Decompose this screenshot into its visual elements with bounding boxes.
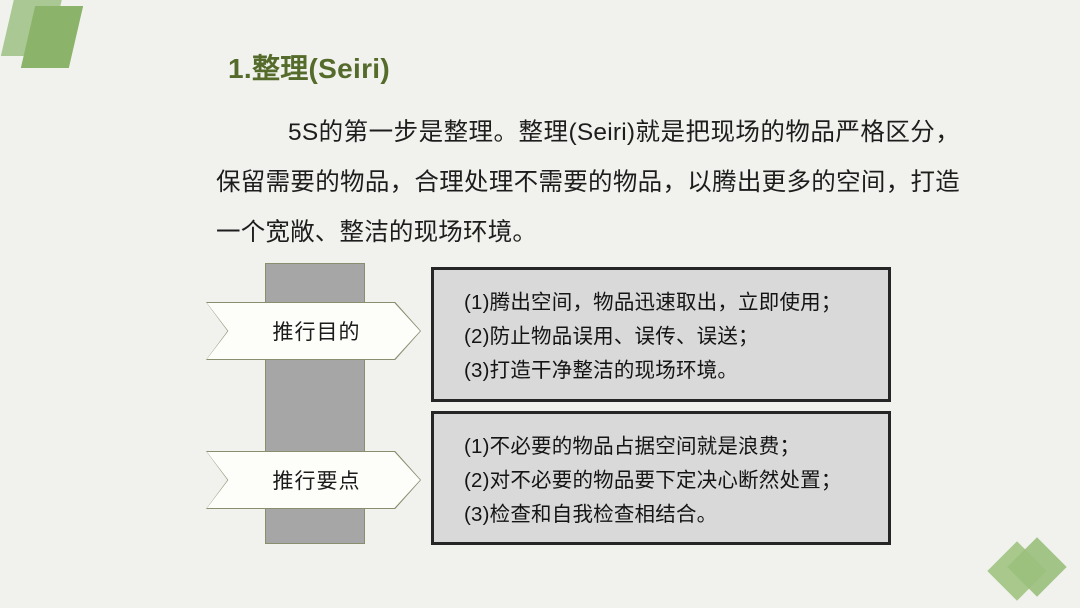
info-line: (2)对不必要的物品要下定决心断然处置； [464,464,888,498]
info-line: (2)防止物品误用、误传、误送； [464,320,888,354]
info-line: (1)腾出空间，物品迅速取出，立即使用； [464,286,888,320]
info-line: (3)打造干净整洁的现场环境。 [464,354,888,388]
info-box-purpose: (1)腾出空间，物品迅速取出，立即使用； (2)防止物品误用、误传、误送； (3… [431,267,891,402]
slide-canvas: 1.整理(Seiri) 5S的第一步是整理。整理(Seiri)就是把现场的物品严… [0,0,1080,608]
process-diagram: 推行目的 (1)腾出空间，物品迅速取出，立即使用； (2)防止物品误用、误传、误… [0,0,1080,608]
bottom-right-decoration [996,542,1070,602]
chevron-label-keypoints: 推行要点 [207,452,420,508]
info-box-keypoints: (1)不必要的物品占据空间就是浪费； (2)对不必要的物品要下定决心断然处置； … [431,411,891,545]
info-line: (1)不必要的物品占据空间就是浪费； [464,430,888,464]
info-line: (3)检查和自我检查相结合。 [464,498,888,532]
chevron-label-purpose: 推行目的 [207,303,420,359]
chevron-arrow-keypoints[interactable]: 推行要点 [207,452,420,508]
chevron-arrow-purpose[interactable]: 推行目的 [207,303,420,359]
